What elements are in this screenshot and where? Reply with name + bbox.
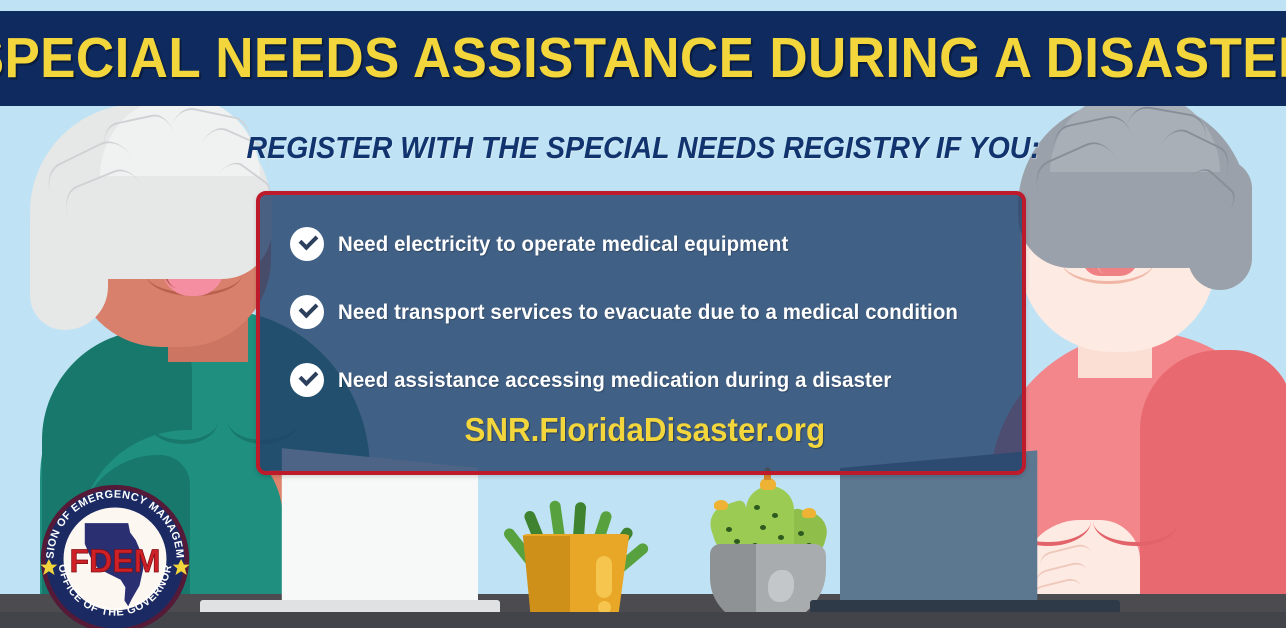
header-banner: SPECIAL NEEDS ASSISTANCE DURING A DISAST…: [0, 11, 1286, 106]
subtitle-wrap: REGISTER WITH THE SPECIAL NEEDS REGISTRY…: [0, 130, 1286, 166]
right-person-chest-line: [1093, 496, 1179, 546]
check-circle-icon: [290, 363, 324, 397]
cactus-spot: [778, 535, 784, 540]
list-item-label: Need assistance accessing medication dur…: [338, 368, 891, 393]
infographic-canvas: SPECIAL NEEDS ASSISTANCE DURING A DISAST…: [0, 0, 1286, 628]
page-title: SPECIAL NEEDS ASSISTANCE DURING A DISAST…: [0, 30, 1286, 87]
list-item: Need assistance accessing medication dur…: [290, 359, 1010, 401]
cactus-spot: [726, 527, 732, 532]
subtitle-text: REGISTER WITH THE SPECIAL NEEDS REGISTRY…: [246, 130, 1039, 166]
registry-url[interactable]: SNR.FloridaDisaster.org: [465, 411, 826, 449]
list-item: Need transport services to evacuate due …: [290, 291, 1010, 333]
left-person-collar: [148, 398, 218, 444]
potted-grass-plant: [500, 482, 650, 628]
cactus-pot-highlight: [768, 570, 794, 602]
list-item-label: Need transport services to evacuate due …: [338, 300, 958, 325]
right-person-torso-shadow: [1140, 350, 1286, 628]
cactus-flower: [802, 508, 816, 518]
cactus-spot: [772, 513, 778, 518]
eligibility-criteria-box: Need electricity to operate medical equi…: [256, 191, 1026, 475]
list-item: Need electricity to operate medical equi…: [290, 223, 1010, 265]
criteria-list: Need electricity to operate medical equi…: [290, 223, 1010, 427]
grass-plant-pot-shadow: [520, 536, 570, 620]
laptop-right-screen: [840, 450, 1037, 618]
check-circle-icon: [290, 227, 324, 261]
cactus-spot: [798, 531, 804, 536]
registry-url-wrap: SNR.FloridaDisaster.org: [260, 411, 1030, 449]
seal-acronym: FDEM: [70, 543, 161, 579]
list-item-label: Need electricity to operate medical equi…: [338, 232, 788, 257]
cactus-spot: [760, 525, 766, 530]
fdem-seal: DIVISION OF EMERGENCY MANAGEMENT OFFICE …: [30, 492, 200, 628]
grass-plant-pot-highlight: [596, 556, 612, 598]
cactus-flower: [714, 500, 728, 510]
check-circle-icon: [290, 295, 324, 329]
cactus-spot: [754, 505, 760, 510]
